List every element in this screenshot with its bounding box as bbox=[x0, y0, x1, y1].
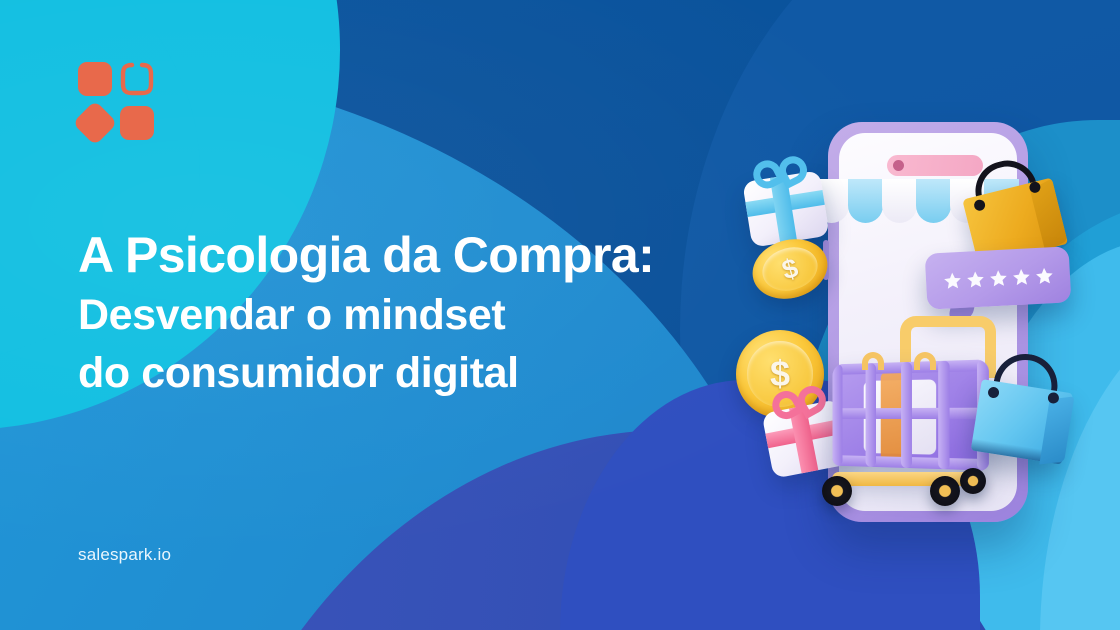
logo-square-bottom-right bbox=[120, 106, 154, 140]
star-icon bbox=[942, 270, 962, 290]
ecommerce-3d-illustration: $ $ bbox=[730, 100, 1100, 520]
cart-hook bbox=[914, 352, 936, 370]
cart-wheel bbox=[822, 476, 852, 506]
star-icon bbox=[988, 268, 1008, 288]
logo-outlined-square-top-right bbox=[120, 62, 154, 96]
blog-cover-canvas: A Psicologia da Compra: Desvendar o mind… bbox=[0, 0, 1120, 630]
salespark-logo-icon[interactable] bbox=[78, 62, 154, 140]
star-icon bbox=[1011, 267, 1031, 287]
page-title: A Psicologia da Compra: Desvendar o mind… bbox=[78, 224, 778, 402]
shopping-bag-blue-icon bbox=[971, 351, 1078, 464]
cart-hook bbox=[862, 352, 884, 370]
gift-box-blue-icon bbox=[736, 156, 834, 250]
logo-square-top-left bbox=[78, 62, 112, 96]
site-url[interactable]: salespark.io bbox=[78, 545, 171, 565]
title-line-2: Desvendar o mindset bbox=[78, 286, 778, 344]
awning-scallop bbox=[916, 179, 951, 223]
awning-scallop bbox=[882, 179, 917, 223]
cart-post bbox=[938, 361, 949, 470]
title-line-3: do consumidor digital bbox=[78, 344, 778, 402]
coin-dollar-symbol: $ bbox=[770, 353, 790, 395]
cart-wheel bbox=[960, 468, 986, 494]
title-line-1: A Psicologia da Compra: bbox=[78, 224, 778, 286]
cart-post bbox=[833, 364, 843, 466]
cart-basket bbox=[833, 359, 989, 470]
review-bubble-icon bbox=[925, 246, 1072, 309]
awning-scallop bbox=[848, 179, 883, 223]
bubble-body bbox=[925, 246, 1072, 309]
logo-diamond-bottom-left bbox=[72, 100, 117, 145]
star-icon bbox=[965, 269, 985, 289]
cart-post bbox=[901, 362, 912, 468]
cart-post bbox=[866, 363, 876, 467]
star-icon bbox=[1034, 266, 1054, 286]
cart-wheel bbox=[930, 476, 960, 506]
